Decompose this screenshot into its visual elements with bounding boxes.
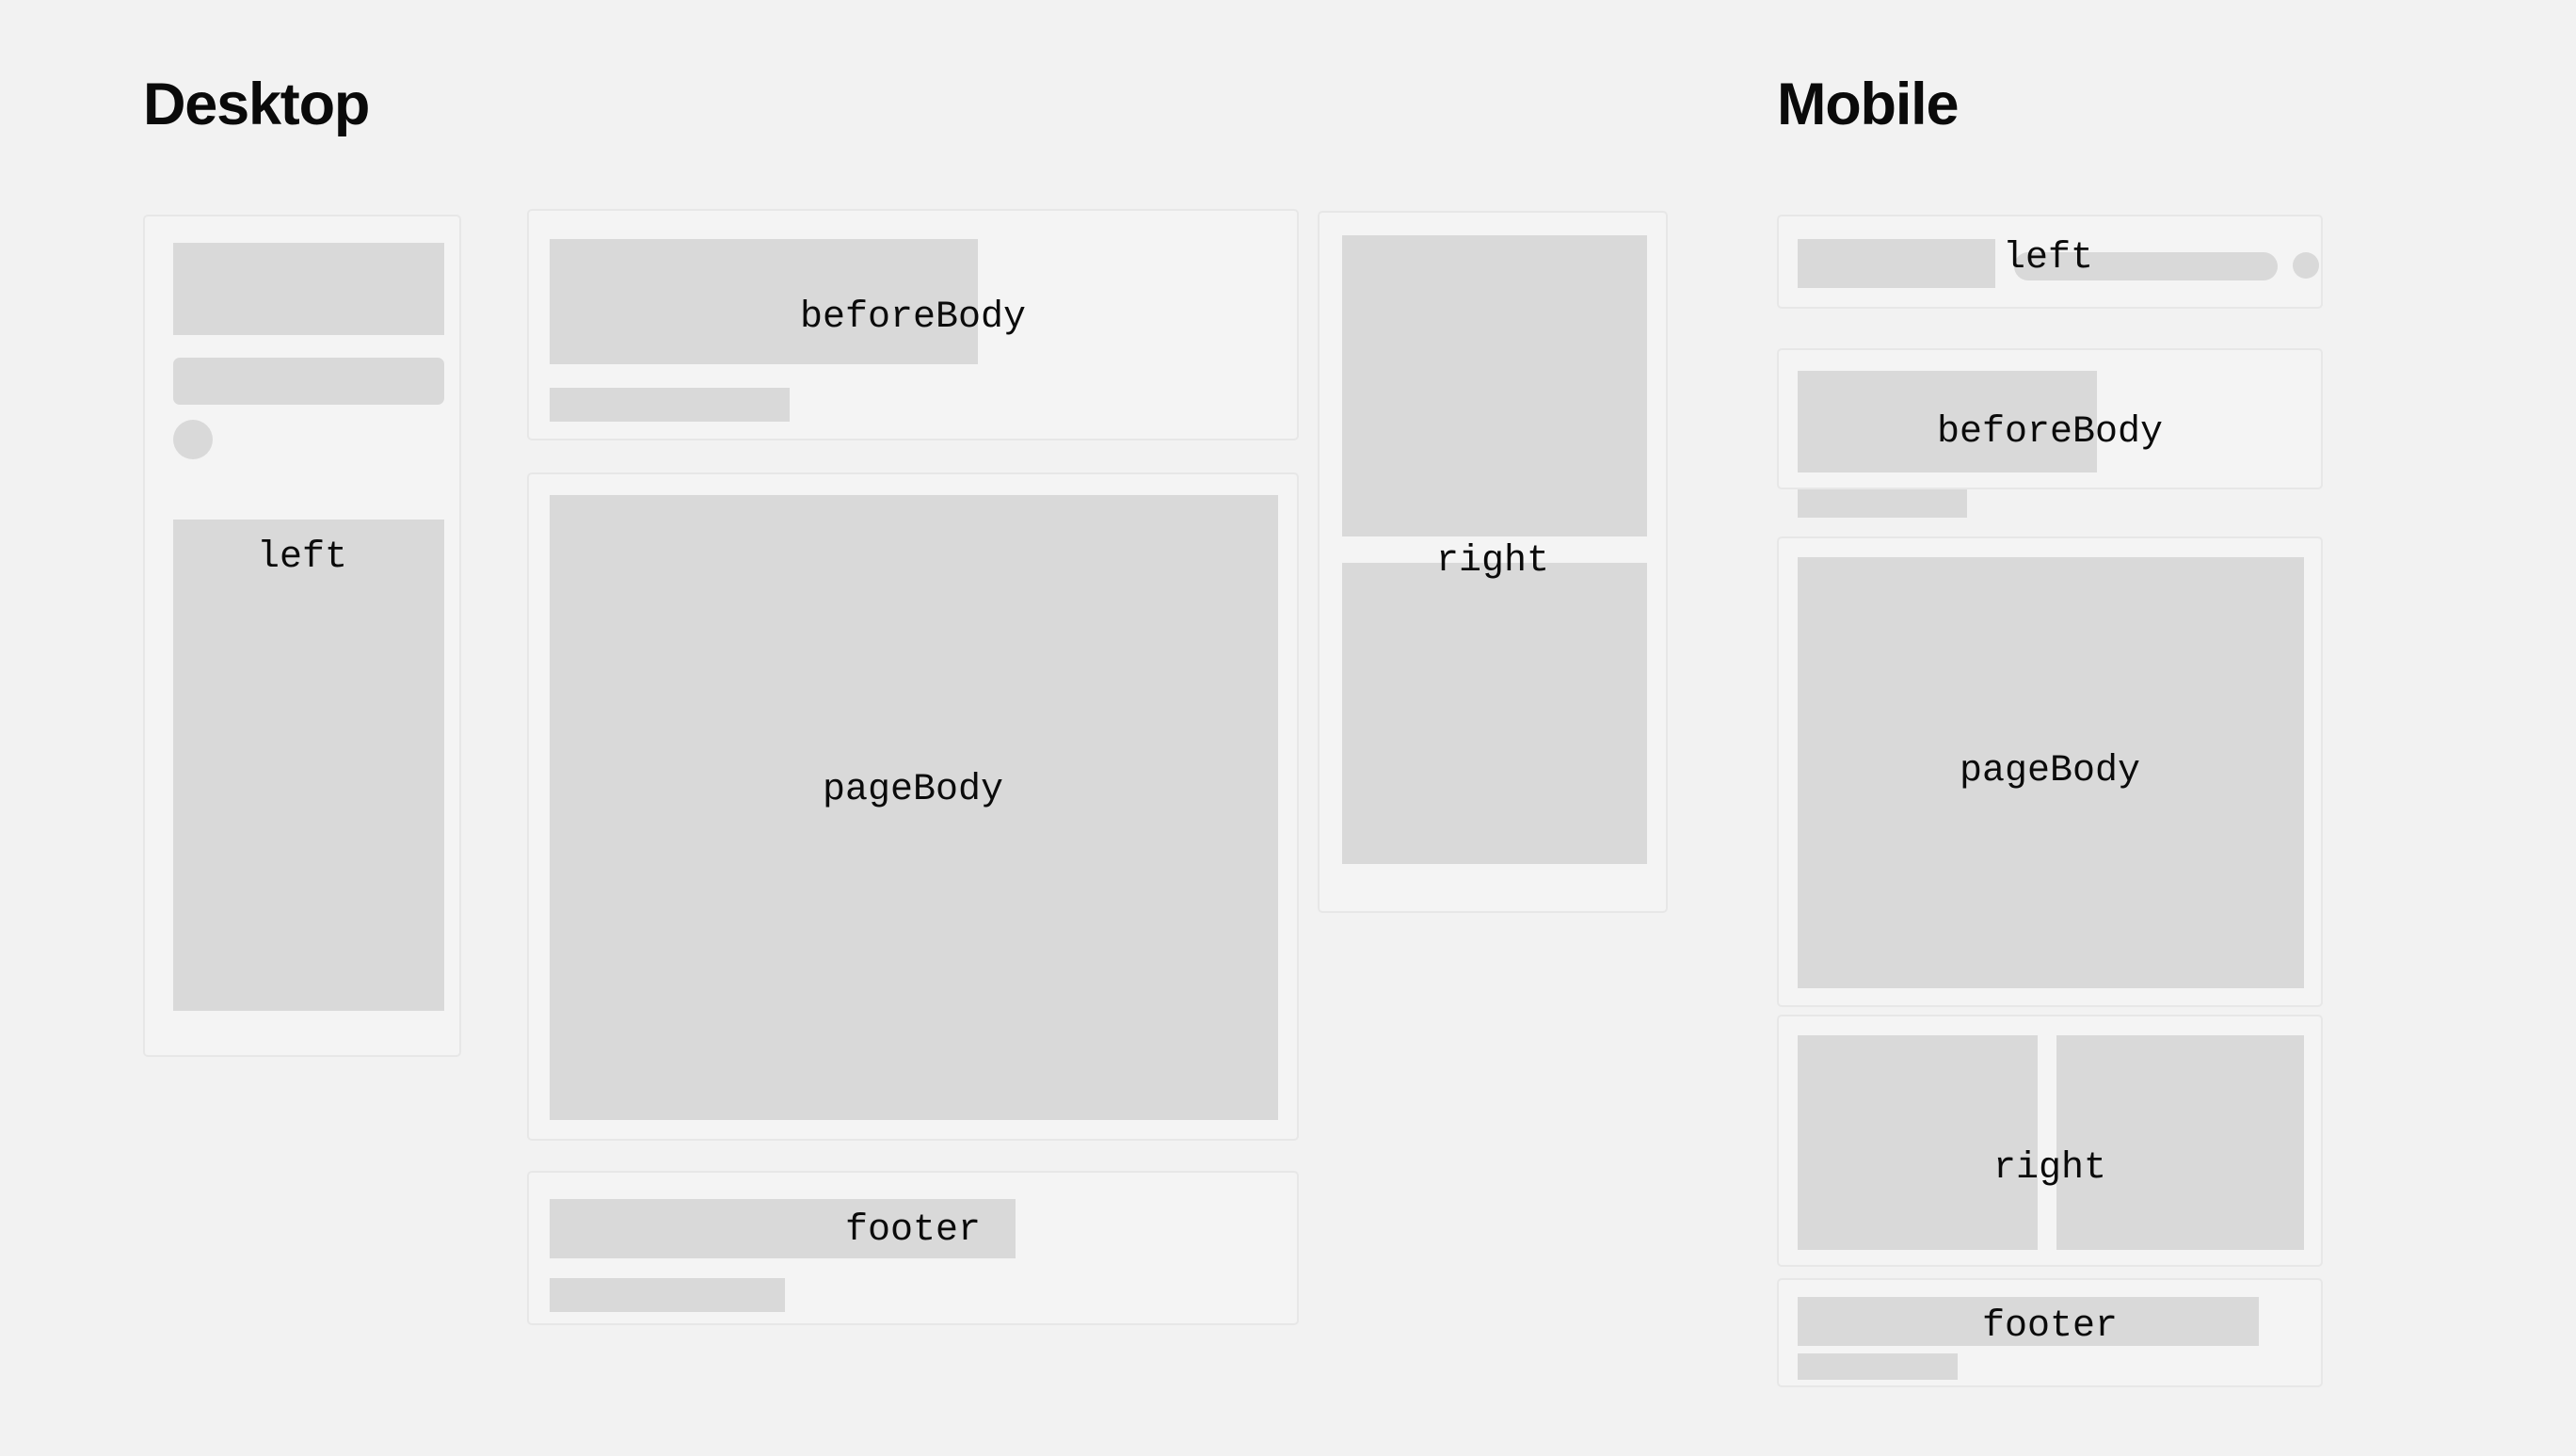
mobile-left-region-panel[interactable] — [1777, 215, 2323, 309]
desktop-section-title: Desktop — [143, 75, 369, 135]
skeleton-block-large — [550, 1199, 1016, 1258]
skeleton-block-small — [550, 388, 790, 422]
wireframe-canvas: Desktop left beforeBody pageBody footer … — [0, 0, 2576, 1456]
skeleton-block-large — [550, 239, 978, 364]
mobile-right-region-panel[interactable] — [1777, 1015, 2323, 1267]
desktop-footer-region-panel[interactable] — [527, 1171, 1299, 1325]
skeleton-block-small — [1798, 489, 1967, 518]
skeleton-block-left — [1798, 1035, 2038, 1250]
desktop-beforebody-region-panel[interactable] — [527, 209, 1299, 440]
skeleton-block-panel — [173, 520, 444, 1011]
mobile-beforebody-region-panel[interactable] — [1777, 348, 2323, 489]
skeleton-block-top — [1342, 235, 1647, 536]
mobile-pagebody-region-panel[interactable] — [1777, 536, 2323, 1007]
skeleton-block-bar — [173, 358, 444, 405]
skeleton-block-small — [1798, 1353, 1958, 1380]
skeleton-avatar-circle-icon — [173, 420, 213, 459]
skeleton-avatar-circle-icon — [2293, 252, 2319, 279]
skeleton-block-bottom — [1342, 563, 1647, 864]
desktop-left-region-panel[interactable] — [143, 215, 461, 1057]
desktop-right-region-panel[interactable] — [1318, 211, 1668, 913]
skeleton-block-large — [1798, 1297, 2259, 1346]
skeleton-block-large — [1798, 371, 2097, 472]
skeleton-block-right — [2056, 1035, 2304, 1250]
skeleton-block-header — [1798, 239, 1995, 288]
desktop-pagebody-region-panel[interactable] — [527, 472, 1299, 1141]
skeleton-block-large — [550, 495, 1278, 1120]
mobile-footer-region-panel[interactable] — [1777, 1278, 2323, 1387]
skeleton-block-large — [1798, 557, 2304, 988]
mobile-section-title: Mobile — [1777, 75, 1958, 135]
skeleton-block-header — [173, 243, 444, 335]
skeleton-block-bar — [2014, 252, 2278, 280]
skeleton-block-small — [550, 1278, 785, 1312]
